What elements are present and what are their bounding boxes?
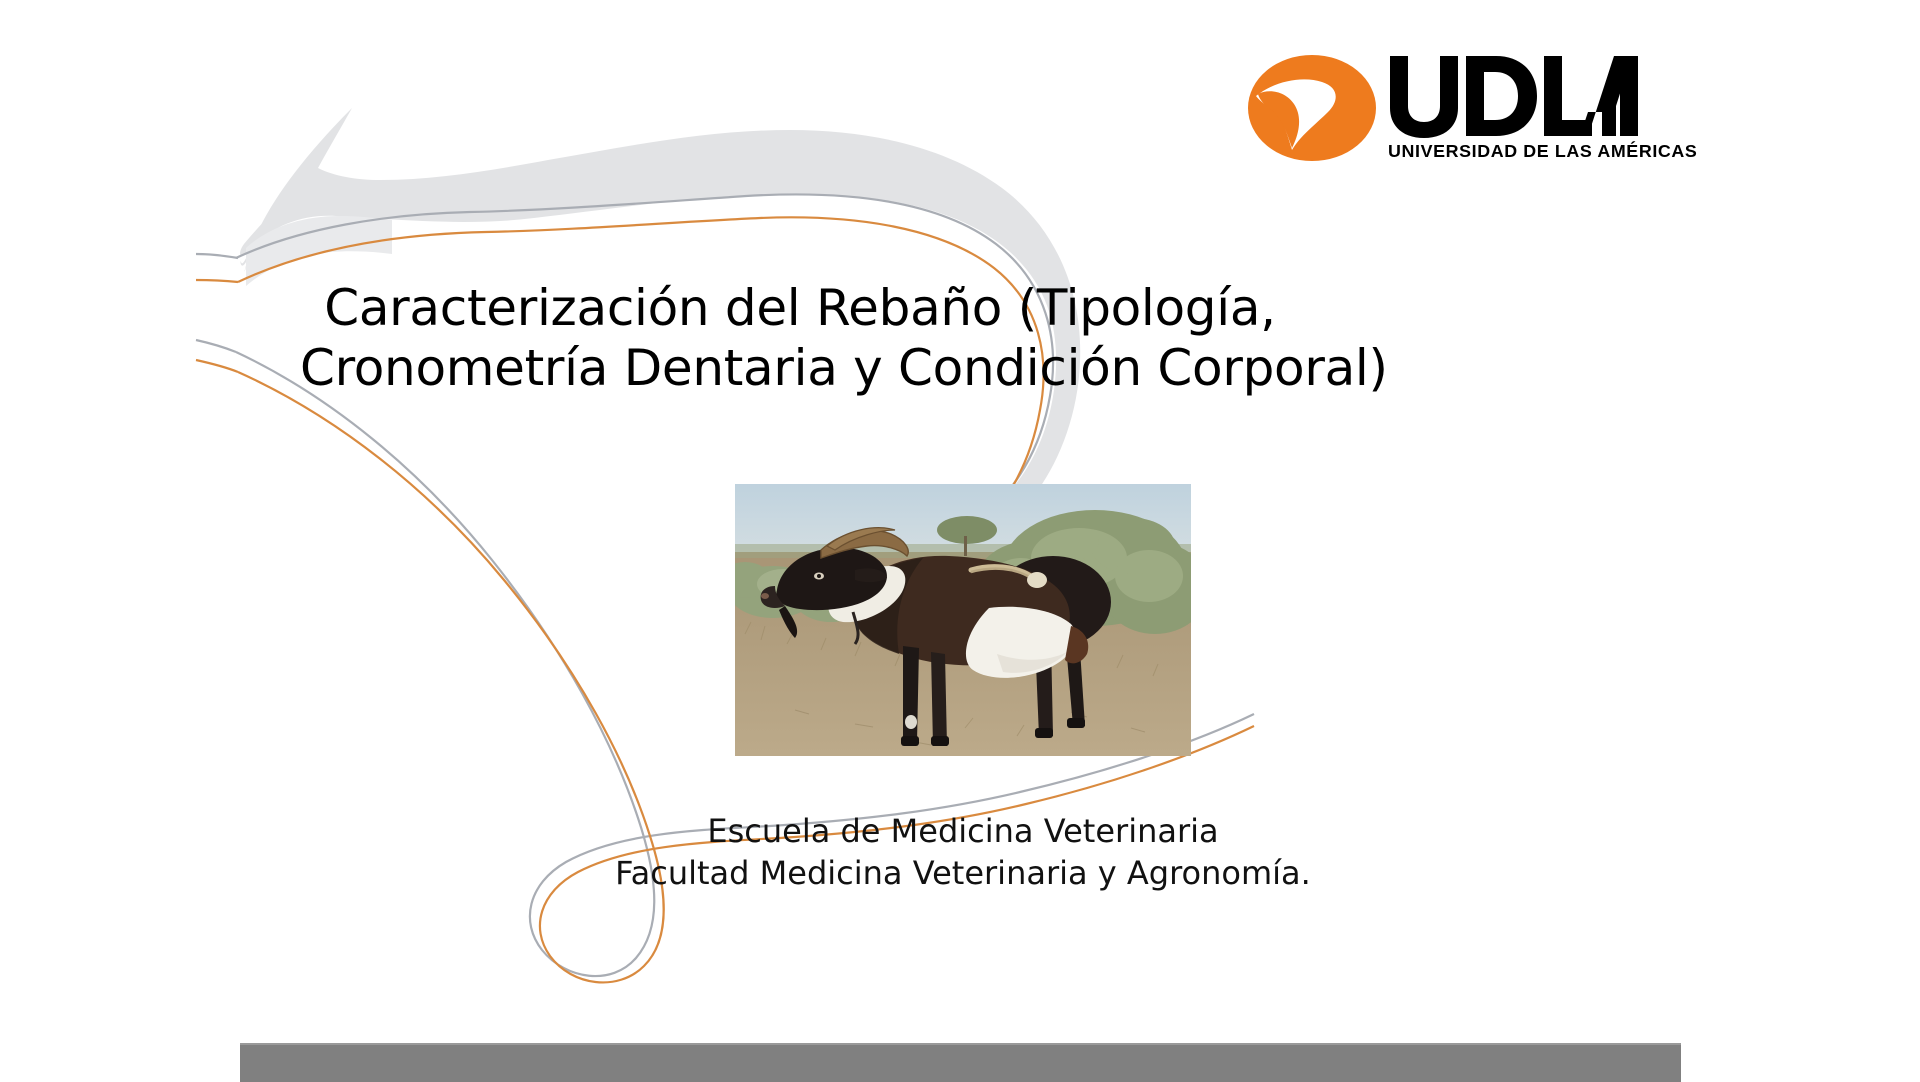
goat-photo [735,484,1191,756]
title-line-1: Caracterización del Rebaño (Tipología, [300,278,1300,338]
udla-wordmark-icon [1388,52,1640,140]
title-line-2: Cronometría Dentaria y Condición Corpora… [300,338,1300,398]
slide-canvas: UNIVERSIDAD DE LAS AMÉRICAS Caracterizac… [0,0,1920,1080]
subtitle-line-1: Escuela de Medicina Veterinaria [463,810,1463,852]
udla-swirl-mark-icon [1246,52,1378,164]
goat-photo-illustration [735,484,1191,756]
subtitle-line-2: Facultad Medicina Veterinaria y Agronomí… [463,852,1463,894]
subtitle-block: Escuela de Medicina Veterinaria Facultad… [463,810,1463,894]
gray-swoosh-lower-edge [246,216,392,286]
udla-tagline: UNIVERSIDAD DE LAS AMÉRICAS [1388,141,1697,162]
udla-logo: UNIVERSIDAD DE LAS AMÉRICAS [1246,52,1646,180]
left-edge-gray-stroke-lower [196,340,236,352]
left-edge-orange-stroke-lower [196,360,238,372]
udla-wordmark-block: UNIVERSIDAD DE LAS AMÉRICAS [1388,52,1691,162]
left-edge-gray-stroke [196,254,238,258]
gray-swoosh-tail [240,168,318,256]
bottom-gray-bar [240,1043,1681,1082]
left-edge-orange-stroke [196,280,238,282]
page-title: Caracterización del Rebaño (Tipología, C… [300,278,1300,398]
